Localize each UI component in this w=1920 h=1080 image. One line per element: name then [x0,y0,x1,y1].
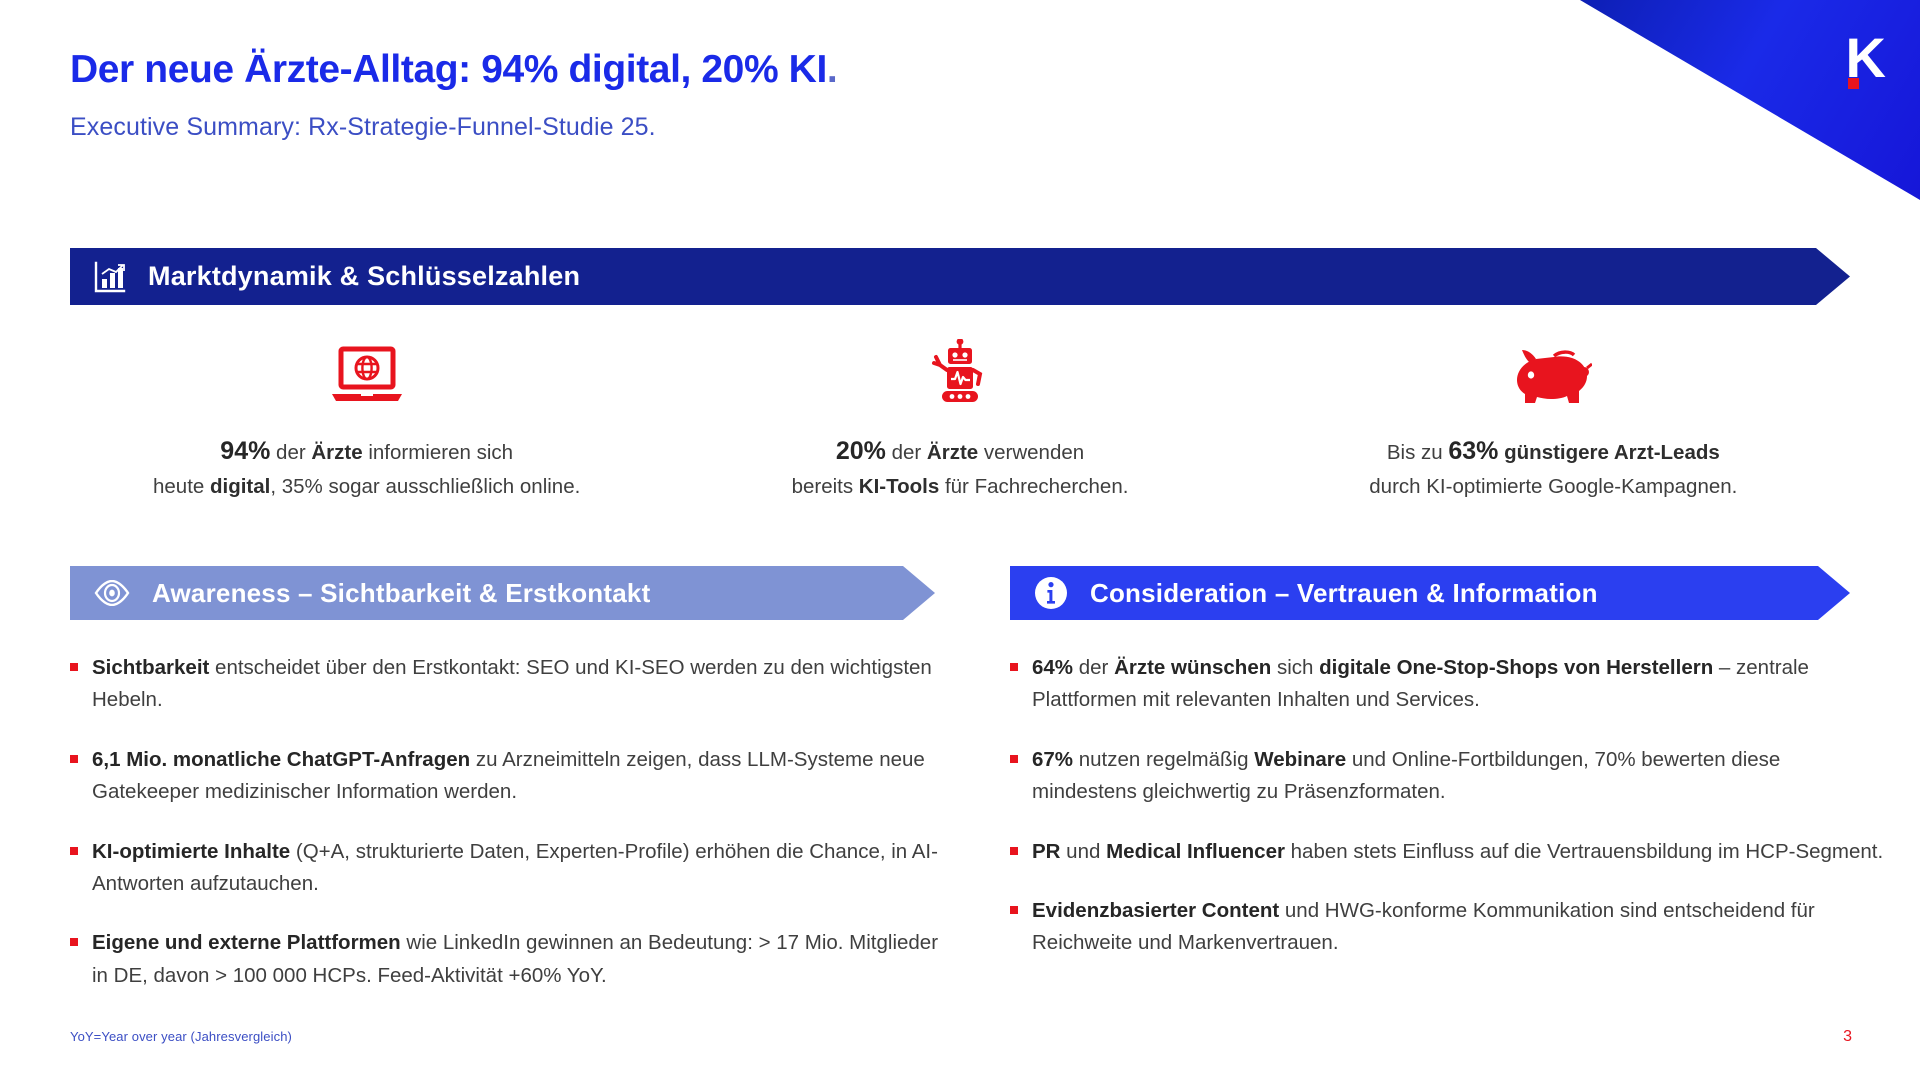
kpi-value-cost: 63% [1448,437,1498,465]
laptop-globe-icon [100,335,633,409]
kpi-value-digital: 94% [220,437,270,465]
kpi-ai-l2b: KI-Tools [859,475,939,498]
kpi-ai-l2c: für Fachrecherchen. [939,475,1128,498]
page-title-main: Der neue Ärzte-Alltag: 94% digital, 20% … [70,48,827,91]
list-item: KI-optimierte Inhalte (Q+A, strukturiert… [70,836,940,901]
list-item-text: Sichtbarkeit entscheidet über den Erstko… [92,652,940,717]
list-item: 6,1 Mio. monatliche ChatGPT-Anfragen zu … [70,744,940,809]
page-title-period: . [827,48,837,91]
logo-letter: K [1846,30,1885,86]
list-item-lead: Sichtbarkeit [92,656,209,679]
bullet-marker-icon [70,755,78,763]
eye-icon [94,580,130,606]
kpi-value-ai-tools: 20% [836,437,886,465]
consideration-bullet-list: 64% der Ärzte wünschen sich digitale One… [1010,652,1890,987]
list-item: 67% nutzen regelmäßig Webinare und Onlin… [1010,744,1890,809]
kpi-digital-l1a: der [270,441,311,464]
footnote: YoY=Year over year (Jahresvergleich) [70,1029,292,1044]
list-item-lead2: Medical Influencer [1106,840,1285,863]
kpi-card-ai-tools-text: 20% der Ärzte verwenden bereits KI-Tools… [693,431,1226,504]
list-item-lead3: digitale One-Stop-Shops von Herstellern [1319,656,1713,679]
bar-chart-icon [92,260,126,294]
list-item-rest: nutzen regelmäßig [1073,748,1254,771]
list-item-lead: 64% [1032,656,1073,679]
section-banner-consideration: Consideration – Vertrauen & Information [1010,566,1850,620]
kpi-ai-l1c: verwenden [978,441,1084,464]
page-number: 3 [1843,1028,1852,1046]
kpi-digital-l2a: heute [153,475,210,498]
list-item-lead: 6,1 Mio. monatliche ChatGPT-Anfragen [92,748,470,771]
awareness-bullet-list: Sichtbarkeit entscheidet über den Erstko… [70,652,940,1019]
section-banner-consideration-label: Consideration – Vertrauen & Information [1090,578,1598,609]
kpi-ai-l1a: der [886,441,927,464]
list-item: PR und Medical Influencer haben stets Ei… [1010,836,1890,868]
section-banner-awareness-label: Awareness – Sichtbarkeit & Erstkontakt [152,578,650,609]
list-item-rest: der [1073,656,1114,679]
list-item-text: 67% nutzen regelmäßig Webinare und Onlin… [1032,744,1890,809]
bullet-marker-icon [1010,906,1018,914]
list-item-rest2: sich [1271,656,1319,679]
list-item-rest2: haben stets Einfluss auf die Vertrauensb… [1285,840,1883,863]
bullet-marker-icon [1010,663,1018,671]
kpi-digital-l1c: informieren sich [363,441,513,464]
section-banner-awareness: Awareness – Sichtbarkeit & Erstkontakt [70,566,935,620]
kpi-card-digital-text: 94% der Ärzte informieren sich heute dig… [100,431,633,504]
kpi-row: 94% der Ärzte informieren sich heute dig… [70,335,1850,504]
page-subtitle: Executive Summary: Rx-Strategie-Funnel-S… [70,113,656,142]
section-banner-market: Marktdynamik & Schlüsselzahlen [70,248,1850,305]
list-item-rest: entscheidet über den Erstkontakt: SEO un… [92,656,932,711]
robot-icon [693,335,1226,409]
brand-corner: K [1580,0,1920,200]
list-item-text: KI-optimierte Inhalte (Q+A, strukturiert… [92,836,940,901]
corner-triangle-decoration [1580,0,1920,200]
bullet-marker-icon [70,938,78,946]
bullet-marker-icon [70,663,78,671]
bullet-marker-icon [1010,847,1018,855]
section-banner-market-label: Marktdynamik & Schlüsselzahlen [148,261,580,292]
kpi-cost-l2a: durch KI-optimierte Google-Kampagnen. [1369,475,1737,498]
list-item-text: Evidenzbasierter Content und HWG-konform… [1032,895,1890,960]
list-item: Eigene und externe Plattformen wie Linke… [70,927,940,992]
kpi-ai-l2a: bereits [792,475,859,498]
kpi-card-cost-text: Bis zu 63% günstigere Arzt-Leads durch K… [1287,431,1820,504]
kpi-card-digital: 94% der Ärzte informieren sich heute dig… [70,335,663,504]
list-item-text: 6,1 Mio. monatliche ChatGPT-Anfragen zu … [92,744,940,809]
kpi-ai-l1b: Ärzte [927,441,978,464]
kpi-digital-l2b: digital [210,475,270,498]
list-item-lead: 67% [1032,748,1073,771]
bullet-marker-icon [70,847,78,855]
kpi-cost-l1b: günstigere Arzt-Leads [1504,441,1720,464]
list-item-rest: und [1060,840,1106,863]
list-item-lead: PR [1032,840,1060,863]
kpi-digital-l2c: , 35% sogar ausschließlich online. [270,475,580,498]
page-title: Der neue Ärzte-Alltag: 94% digital, 20% … [70,48,837,92]
list-item-lead: Eigene und externe Plattformen [92,931,401,954]
bullet-marker-icon [1010,755,1018,763]
kpi-cost-l1a: Bis zu [1387,441,1449,464]
list-item-lead2: Ärzte wünschen [1114,656,1271,679]
list-item-lead: KI-optimierte Inhalte [92,840,290,863]
list-item-text: 64% der Ärzte wünschen sich digitale One… [1032,652,1890,717]
list-item-text: PR und Medical Influencer haben stets Ei… [1032,836,1883,868]
logo-accent-dot [1848,78,1859,89]
list-item-text: Eigene und externe Plattformen wie Linke… [92,927,940,992]
kpi-card-cost: Bis zu 63% günstigere Arzt-Leads durch K… [1257,335,1850,504]
kpi-digital-l1b: Ärzte [311,441,362,464]
kpi-card-ai-tools: 20% der Ärzte verwenden bereits KI-Tools… [663,335,1256,504]
list-item-lead2: Webinare [1254,748,1346,771]
piggy-bank-icon [1287,335,1820,409]
info-circle-icon [1034,576,1068,610]
list-item: Evidenzbasierter Content und HWG-konform… [1010,895,1890,960]
list-item-lead: Evidenzbasierter Content [1032,899,1279,922]
list-item: 64% der Ärzte wünschen sich digitale One… [1010,652,1890,717]
list-item: Sichtbarkeit entscheidet über den Erstko… [70,652,940,717]
